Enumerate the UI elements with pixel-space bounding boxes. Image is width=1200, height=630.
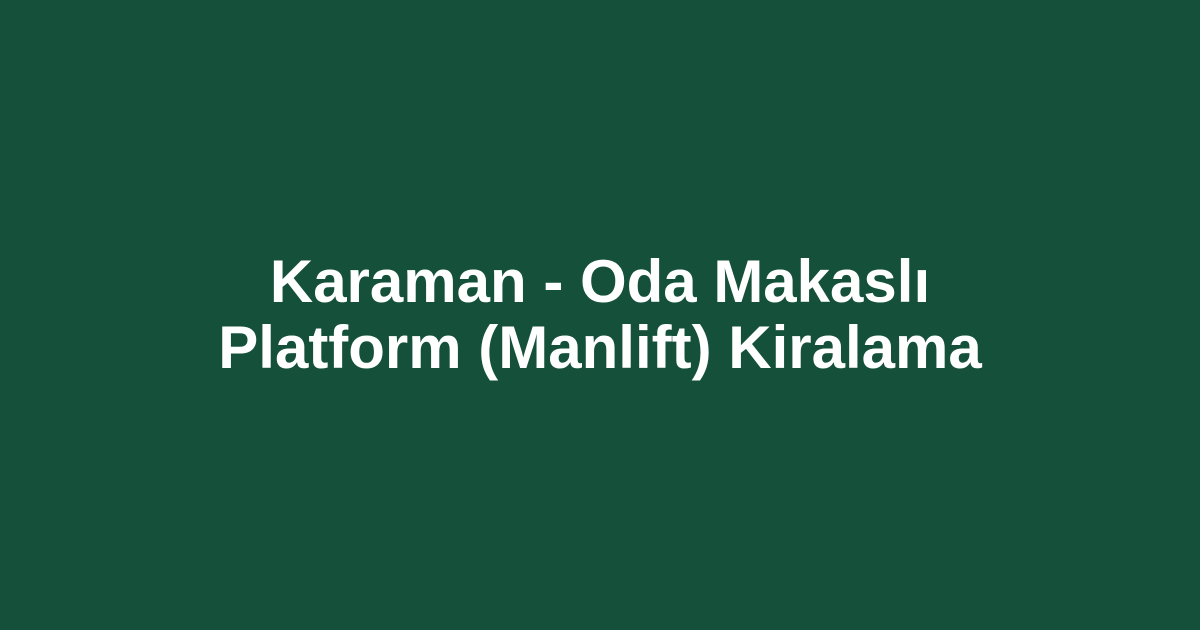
og-card: Karaman - Oda Makaslı Platform (Manlift)… — [0, 0, 1200, 630]
card-content: Karaman - Oda Makaslı Platform (Manlift)… — [0, 249, 1200, 381]
page-title: Karaman - Oda Makaslı Platform (Manlift)… — [175, 249, 1025, 381]
